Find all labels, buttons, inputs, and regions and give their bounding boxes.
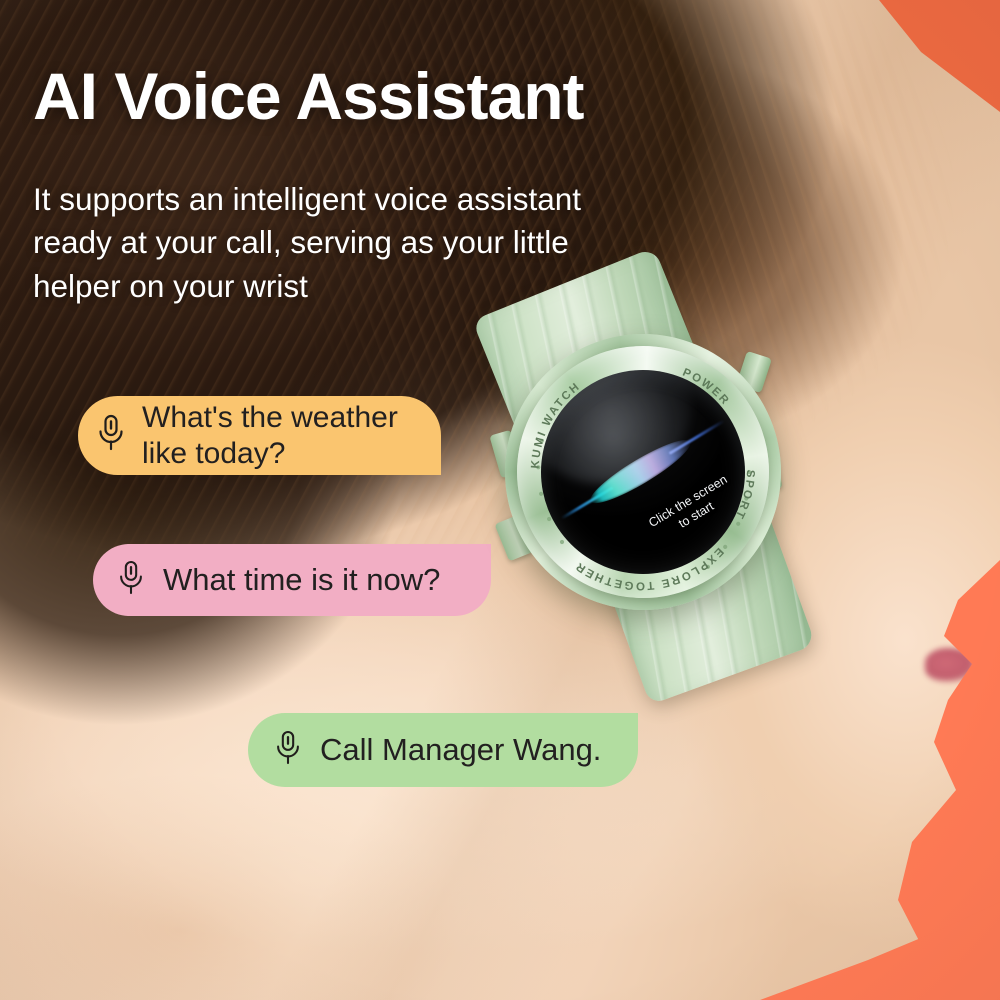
voice-bubble-time: What time is it now? — [93, 544, 491, 616]
product-poster: AI Voice Assistant It supports an intell… — [0, 0, 1000, 1000]
microphone-icon — [272, 729, 304, 772]
smartwatch: KUMI WATCH POWER SPORT EXPLORE TOGETHER … — [487, 282, 807, 662]
microphone-icon — [115, 559, 147, 602]
voice-bubble-time-text: What time is it now? — [163, 562, 440, 599]
voice-bubble-weather-text: What's the weather like today? — [142, 400, 398, 470]
subtitle-line-1: It supports an intelligent voice assista… — [33, 178, 733, 221]
voice-bubble-weather: What's the weather like today? — [78, 396, 441, 475]
bubble-line-2: like today? — [142, 436, 398, 471]
voice-bubble-call: Call Manager Wang. — [248, 713, 638, 787]
microphone-icon — [94, 413, 128, 458]
bubble-line-1: What's the weather — [142, 400, 398, 435]
page-title: AI Voice Assistant — [33, 62, 584, 131]
watch-screen[interactable]: Click the screen to start — [541, 370, 745, 574]
voice-bubble-call-text: Call Manager Wang. — [320, 732, 601, 769]
